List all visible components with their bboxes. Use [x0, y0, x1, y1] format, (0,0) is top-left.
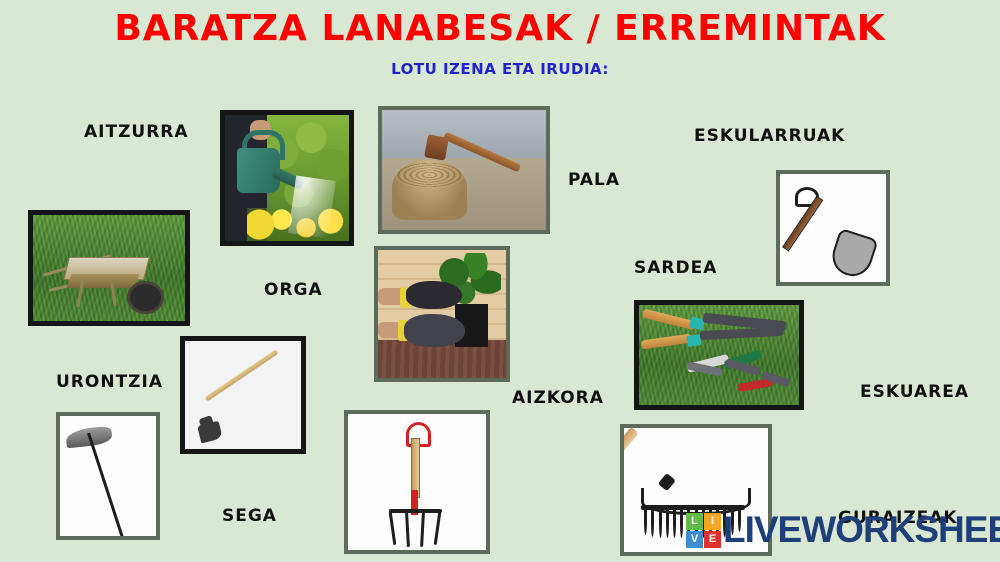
- label-sega[interactable]: SEGA: [222, 506, 277, 526]
- image-shears[interactable]: [634, 300, 804, 410]
- label-sardea[interactable]: SARDEA: [634, 258, 717, 278]
- garden-shears-photo: [639, 305, 799, 405]
- label-pala[interactable]: PALA: [568, 170, 620, 190]
- garden-fork-clipart: [348, 414, 486, 550]
- label-urontzia[interactable]: URONTZIA: [56, 372, 163, 392]
- gardening-gloves-photo: [378, 250, 506, 378]
- label-aizkora[interactable]: AIZKORA: [512, 388, 604, 408]
- shovel-clipart: [780, 174, 886, 282]
- live-logo-tiles: L I V E: [686, 513, 721, 548]
- wheelbarrow-photo: [33, 215, 185, 321]
- label-eskuarea[interactable]: ESKUAREA: [860, 382, 969, 402]
- image-scythe[interactable]: [56, 412, 160, 540]
- logo-tile-l: L: [686, 513, 703, 530]
- label-aitzurra[interactable]: AITZURRA: [84, 122, 189, 142]
- logo-tile-v: V: [686, 531, 703, 548]
- logo-tile-i: I: [704, 513, 721, 530]
- watermark-text: LIVEWORKSHEETS: [723, 509, 1000, 551]
- liveworksheets-watermark: L I V E LIVEWORKSHEETS: [686, 508, 1000, 552]
- hoe-photo: [185, 341, 301, 449]
- logo-tile-e: E: [704, 531, 721, 548]
- image-shovel[interactable]: [776, 170, 890, 286]
- image-wheelbarrow[interactable]: [28, 210, 190, 326]
- watering-can-photo: [225, 115, 349, 241]
- image-axe[interactable]: [378, 106, 550, 234]
- image-hoe[interactable]: [180, 336, 306, 454]
- page-title: BARATZA LANABESAK / ERREMINTAK: [0, 8, 1000, 49]
- scythe-photo: [60, 416, 156, 536]
- image-watering-can[interactable]: [220, 110, 354, 246]
- axe-on-stump-photo: [382, 110, 546, 230]
- label-orga[interactable]: ORGA: [264, 280, 323, 300]
- page-subtitle: LOTU IZENA ETA IRUDIA:: [0, 60, 1000, 78]
- label-eskularruak[interactable]: ESKULARRUAK: [694, 126, 845, 146]
- image-fork[interactable]: [344, 410, 490, 554]
- image-gloves[interactable]: [374, 246, 510, 382]
- worksheet-canvas: BARATZA LANABESAK / ERREMINTAK LOTU IZEN…: [0, 0, 1000, 562]
